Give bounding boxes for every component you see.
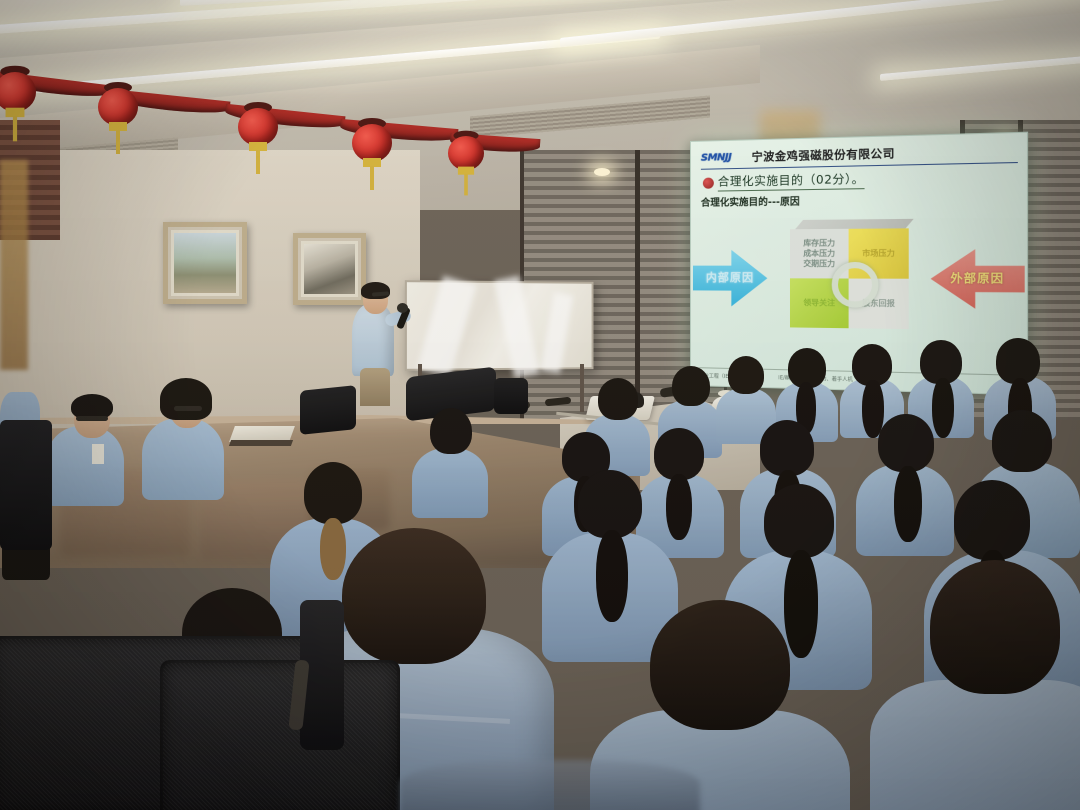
presenter-trousers [360,368,390,406]
glasses-icon [76,416,108,421]
quadrant-line: 领导关注 [803,298,835,308]
framed-picture-right [293,233,366,305]
ponytail [894,466,922,542]
picture-art-left [171,230,239,296]
person-hair [992,410,1052,472]
picture-image-right [304,244,355,294]
office-chair-back-left[interactable] [0,420,52,550]
person-hair [728,356,764,394]
whiteboard-glare-1 [417,276,477,378]
slide-bullet-row: 合理化实施目的（02分）。 [703,170,865,191]
office-chair-back [300,385,356,435]
framed-picture-left [163,222,247,304]
lantern-body [98,88,138,126]
ponytail [596,530,628,622]
person-hair [650,600,790,730]
glasses-icon [174,406,202,411]
person-hair-cap [160,378,212,420]
person-hair [654,428,704,480]
quadrant-line: 库存压力 [803,239,835,249]
meeting-room-photo: SMNJJ 宁波金鸡强磁股份有限公司 合理化实施目的（02分）。 合理化实施目的… [0,0,1080,810]
slide-bullet-title: 合理化实施目的（02分）。 [718,170,865,191]
person-hair [578,470,642,538]
foreground-shoulder-blur [400,760,700,810]
ceiling-downlight-1 [594,168,610,176]
person-hair [598,378,638,420]
bullet-dot-icon [703,177,714,188]
quadrant-line: 成本压力 [803,249,835,259]
whiteboard-glare-2 [494,276,540,379]
lantern-tassel [256,150,260,174]
wall-panel-seam-1 [635,150,640,420]
person-hair [878,414,934,472]
ponytail-blonde [320,518,346,580]
lantern-tassel [116,130,120,154]
external-cause-label: 外部原因 [931,269,1025,286]
lantern-body [352,124,392,162]
quadrant-line: 交期压力 [803,259,835,269]
pressure-quadrant-diagram: 库存压力 成本压力 交期压力 市场压力 领导关注 股东回报 [790,228,909,329]
presenter-hair [361,282,390,299]
ponytail [666,474,692,540]
lantern-body [448,136,484,170]
person-shirt [142,418,224,500]
external-cause-arrow: 外部原因 [931,249,1025,309]
person-hair [954,480,1030,560]
person-hair [764,484,834,558]
slide-header: SMNJJ 宁波金鸡强磁股份有限公司 [701,138,1018,169]
person-hair [672,366,710,406]
slide-subtitle: 合理化实施目的---原因 [701,193,800,209]
person-hair [304,462,362,524]
notebook-cover [229,440,293,446]
lantern-tassel [370,166,374,190]
whiteboard-leg-right [580,364,584,412]
ponytail [932,378,954,438]
person-hair [760,420,814,476]
recycle-arrows-icon [832,262,879,308]
picture-image-left [174,233,236,293]
badge-icon [92,444,104,464]
internal-cause-label: 内部原因 [693,269,767,285]
lantern-body [238,108,278,146]
quadrant-line: 市场压力 [862,248,895,258]
lantern-tassel [464,174,468,196]
wall-warm-light-left [0,160,28,370]
internal-cause-arrow: 内部原因 [693,250,767,307]
person-shirt [46,426,124,506]
microphone-head [397,303,408,313]
person-shirt [412,448,488,518]
whiteboard [405,280,594,371]
office-chair-foreground-center[interactable] [160,660,400,810]
company-name: 宁波金鸡强磁股份有限公司 [752,145,895,165]
person-hair [430,408,472,454]
whiteboard-glare-3 [541,292,574,373]
person-hair-bob [342,528,486,664]
office-chair-back-3 [494,378,528,414]
company-logo: SMNJJ [701,151,731,163]
ponytail [784,550,818,658]
person-shirt [870,680,1080,810]
picture-art-right [301,241,358,297]
person-hair [930,560,1060,694]
lantern-tassel [13,116,17,141]
